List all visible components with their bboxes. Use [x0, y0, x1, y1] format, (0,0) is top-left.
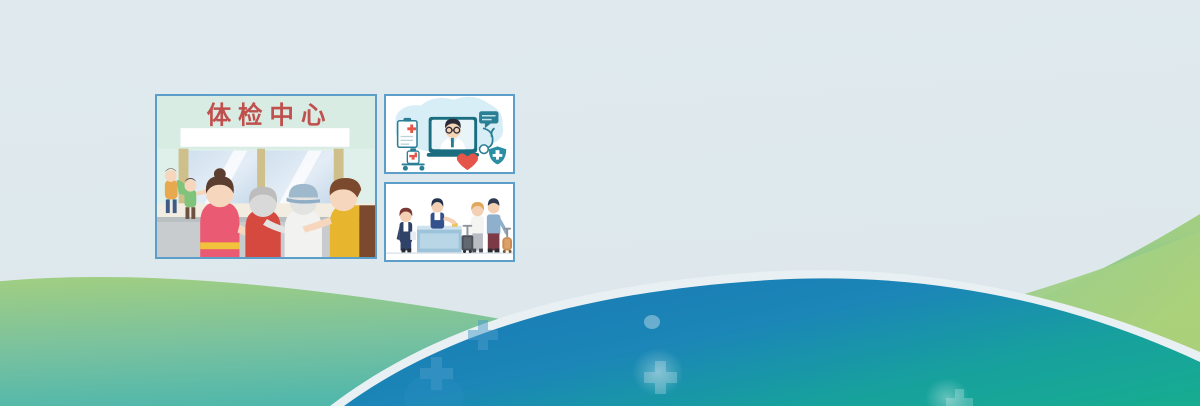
cross-motif-group [420, 320, 498, 390]
cross-icon [946, 389, 973, 406]
telemedicine-artwork [386, 96, 513, 172]
wave-seam-highlight [330, 270, 1200, 406]
cross-icon [420, 357, 453, 390]
cross-icon [468, 320, 498, 350]
health-exam-center-photo[interactable]: 体检中心 体检中心 [155, 94, 377, 259]
blue-wave-shape [344, 278, 1200, 406]
cross-motif-group-light [644, 361, 973, 406]
laptop-with-doctor [427, 117, 479, 157]
slide-canvas: 体检中心 体检中心 [0, 0, 1200, 406]
health-exam-center-artwork: 体检中心 [157, 96, 375, 257]
reception-desk-artwork [386, 184, 513, 260]
glow-dot [404, 374, 464, 406]
clipboard-icon [398, 118, 417, 147]
cross-icon [644, 361, 677, 394]
stethoscope-bell [480, 145, 489, 154]
person-red-shirt-senior [245, 187, 280, 257]
center-title-text: 体检中心 [207, 100, 333, 129]
glow-dot [644, 315, 660, 329]
reception-desk-illustration[interactable] [384, 182, 515, 262]
title-blank-banner [181, 128, 350, 147]
telemedicine-illustration[interactable] [384, 94, 515, 174]
glow-dot [632, 348, 684, 396]
green-wave-accent [560, 232, 1200, 406]
glow-dot [925, 378, 969, 406]
